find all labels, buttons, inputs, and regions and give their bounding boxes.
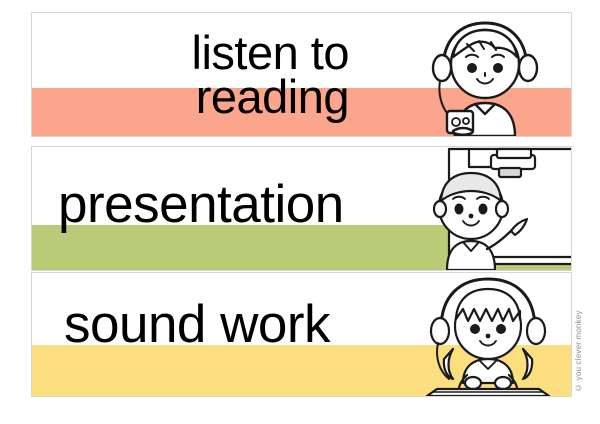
label-card-presentation[interactable]: presentation (31, 146, 572, 271)
label-card-listen-to-reading[interactable]: listen to reading (31, 12, 572, 137)
color-band-sage-green (32, 225, 571, 270)
label-card-sound-work[interactable]: sound work (31, 272, 572, 397)
color-band-pale-yellow (32, 345, 571, 396)
label-sheet: listen to reading (0, 0, 600, 424)
copyright-watermark: © you clever monkey (574, 282, 588, 392)
color-band-salmon (32, 88, 571, 136)
